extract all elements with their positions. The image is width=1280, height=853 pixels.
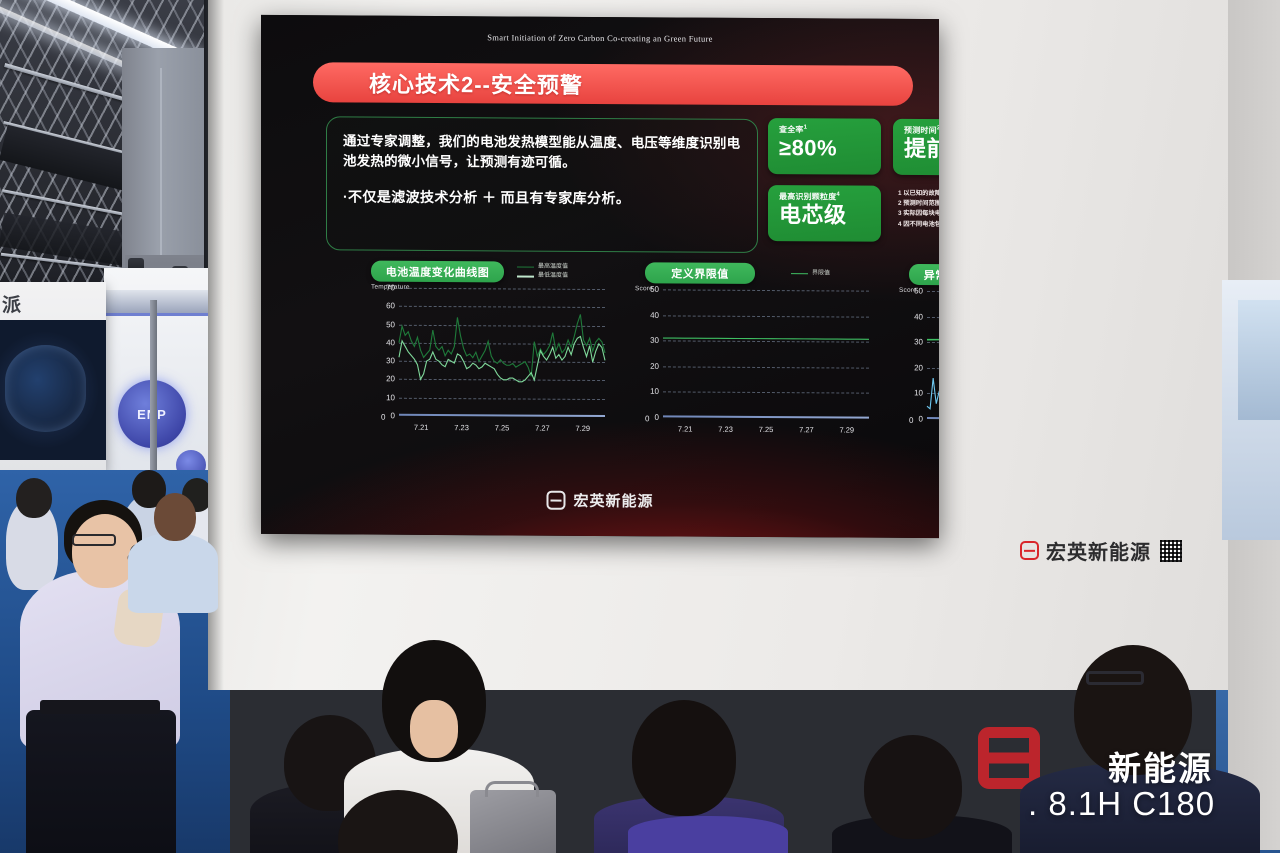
y-axis-tick: 40	[914, 312, 923, 321]
slide-eyebrow: Smart Initiation of Zero Carbon Co-creat…	[261, 31, 939, 45]
y-axis-tick: 20	[914, 363, 923, 372]
chart1-plot: 010203040506070	[399, 288, 605, 417]
audience-head	[864, 735, 962, 839]
x-axis-tick: 7.29	[839, 425, 854, 434]
booth-right-inner	[1238, 300, 1280, 420]
y-axis-tick: 10	[914, 389, 923, 398]
y-axis-tick: 70	[386, 283, 395, 292]
chart-anomaly: 01020304050 07.217.237.257.277.29	[899, 287, 939, 440]
kpi-value: ≥80%	[779, 136, 872, 160]
x-axis-tick: 7.23	[718, 425, 733, 434]
overlay-booth-code: . 8.1H C180	[1028, 785, 1215, 823]
qr-code-icon	[1160, 540, 1182, 562]
wall-brand-lockup: 宏英新能源	[1020, 536, 1182, 565]
kpi-label: 预测时间2	[904, 125, 939, 137]
x-axis-origin-label: 0	[381, 413, 385, 422]
slide-title-banner: 核心技术2--安全预警	[313, 62, 913, 106]
presentation-slide: Smart Initiation of Zero Carbon Co-creat…	[261, 15, 939, 538]
y-axis-tick: 40	[386, 338, 395, 347]
chart-series-svg	[927, 291, 939, 420]
x-axis-origin-label: 0	[645, 414, 649, 423]
kpi-label: 最高识别颗粒度4	[779, 191, 872, 203]
chart-title-anomaly: 异常识别预测图	[909, 264, 939, 286]
chart-threshold: 01020304050 07.217.237.257.277.29	[635, 285, 871, 438]
x-axis	[663, 416, 869, 419]
y-axis-tick: 30	[914, 338, 923, 347]
attendee-head	[154, 493, 196, 541]
presenter-belt	[40, 700, 160, 714]
x-axis-tick: 7.29	[575, 424, 590, 433]
x-axis-tick: 7.23	[454, 423, 469, 432]
y-axis-tick: 0	[919, 414, 923, 423]
chart3-plot: 01020304050	[927, 291, 939, 420]
description-paragraph-2: ·不仅是滤波技术分析 ＋ 而且有专家库分析。	[343, 186, 742, 208]
y-axis-tick: 40	[650, 310, 659, 319]
presenter-trousers	[26, 710, 176, 853]
booth-left-logo: 派	[2, 290, 62, 316]
y-axis-tick: 0	[655, 413, 659, 422]
y-axis-tick: 50	[650, 285, 659, 294]
x-axis-tick: 7.27	[535, 424, 550, 433]
kpi-value: 电芯级	[779, 203, 872, 227]
y-axis-tick: 0	[391, 411, 395, 420]
legend-label: 最高温度值	[538, 263, 568, 272]
kpi-card-granularity: 最高识别颗粒度4 电芯级	[768, 185, 881, 242]
y-axis-tick: 60	[386, 301, 395, 310]
brand-mark-icon-red	[1020, 541, 1039, 560]
presenter-glasses-icon	[72, 534, 116, 546]
kpi-card-prediction-time: 预测时间2 提前7天	[893, 119, 939, 176]
slide-description-box: 通过专家调整，我们的电池发热模型能从温度、电压等维度识别电池发热的微小信号，让预…	[326, 116, 758, 253]
legend-label: 界限值	[812, 269, 830, 278]
x-axis	[927, 417, 939, 420]
audience-member	[838, 735, 998, 853]
x-axis-tick: 7.25	[495, 423, 510, 432]
y-axis-tick: 30	[386, 356, 395, 365]
description-paragraph-1: 通过专家调整，我们的电池发热模型能从温度、电压等维度识别电池发热的微小信号，让预…	[343, 131, 742, 174]
audience-member	[628, 806, 788, 853]
chart-temperature: 010203040506070 07.217.237.257.277.29	[371, 284, 607, 437]
brand-mark-icon	[546, 491, 565, 510]
slide-footnotes: 1 以已知的故障类型为基础，实际因场景和电池材料不同有区别 。 2 预测时间范围…	[898, 189, 939, 231]
x-axis-tick: 7.25	[759, 425, 774, 434]
x-axis-tick: 7.21	[414, 423, 429, 432]
x-axis-origin-label: 0	[909, 416, 913, 425]
y-axis-tick: 30	[650, 336, 659, 345]
attendee-shirt	[128, 533, 218, 613]
slide-title: 核心技术2--安全预警	[369, 67, 583, 100]
y-axis-tick: 50	[386, 320, 395, 329]
chart2-plot: 01020304050	[663, 289, 869, 418]
brand-name: 宏英新能源	[573, 490, 653, 511]
chart-legend-temperature: 最高温度值 最低温度值	[517, 262, 568, 281]
background-attendee	[128, 487, 218, 607]
projection-screen: Smart Initiation of Zero Carbon Co-creat…	[261, 15, 939, 538]
audience-member	[320, 790, 500, 853]
chart-series-svg	[399, 288, 605, 417]
audience-face	[410, 700, 458, 758]
y-axis-tick: 20	[386, 375, 395, 384]
x-axis	[399, 414, 605, 417]
audience-shoulders	[628, 816, 788, 853]
y-axis-tick: 50	[914, 286, 923, 295]
chart-series-svg	[663, 289, 869, 418]
chart-title-temperature: 电池温度变化曲线图	[371, 261, 504, 283]
audience-head	[632, 700, 736, 816]
y-axis-tick: 20	[650, 362, 659, 371]
footnote-4: 4 因不同电池包制造规格和数据质量而有不同。	[898, 219, 939, 231]
kpi-card-recall: 查全率1 ≥80%	[768, 118, 881, 175]
y-axis-tick: 10	[386, 393, 395, 402]
audience-glasses-icon	[1086, 671, 1144, 685]
legend-label: 最低温度值	[538, 272, 568, 281]
kpi-value: 提前7天	[904, 137, 939, 161]
booth-product-image	[0, 320, 106, 460]
audience-head	[338, 790, 458, 853]
chart-title-threshold: 定义界限值	[645, 262, 755, 284]
slide-footer-logo: 宏英新能源	[546, 490, 653, 512]
x-axis-tick: 7.21	[678, 424, 693, 433]
x-axis-tick: 7.27	[799, 425, 814, 434]
wall-brand-name: 宏英新能源	[1046, 536, 1151, 565]
kpi-label: 查全率1	[779, 124, 872, 136]
chart-legend-threshold: 界限值	[791, 269, 830, 279]
y-axis-tick: 10	[650, 387, 659, 396]
overlay-brand-text: 新能源	[1108, 742, 1213, 790]
